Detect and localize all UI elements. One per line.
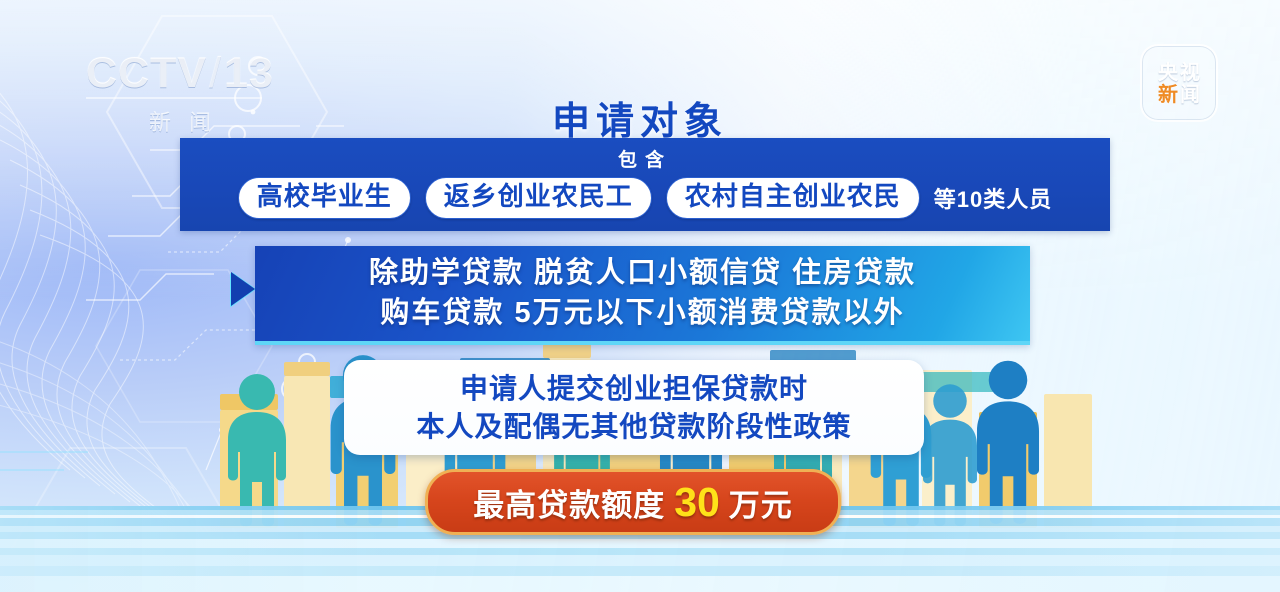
max-loan-number: 30: [671, 479, 723, 526]
eligibility-pill-2: 返乡创业农民工: [425, 177, 652, 219]
condition-line-2: 本人及配偶无其他贷款阶段性政策: [416, 408, 851, 446]
condition-card: 申请人提交创业担保贷款时 本人及配偶无其他贷款阶段性政策: [344, 360, 924, 455]
eligibility-tail-text: 等10类人员: [934, 182, 1052, 214]
max-loan-suffix: 万元: [729, 480, 793, 525]
exclusions-line-2: 购车贷款 5万元以下小额消费贷款以外: [380, 294, 904, 333]
eligibility-pill-1: 高校毕业生: [238, 177, 411, 219]
page-title: 申请对象: [0, 90, 1280, 145]
exclusions-panel: 除助学贷款 脱贫人口小额信贷 住房贷款 购车贷款 5万元以下小额消费贷款以外: [255, 246, 1030, 345]
max-loan-prefix: 最高贷款额度: [473, 480, 665, 525]
news-badge-row-top: 央 视: [1158, 62, 1200, 83]
condition-line-1: 申请人提交创业担保贷款时: [460, 370, 808, 408]
eligibility-pill-row: 高校毕业生 返乡创业农民工 农村自主创业农民 等10类人员: [180, 177, 1110, 219]
eligibility-panel: 包含 高校毕业生 返乡创业农民工 农村自主创业农民 等10类人员: [180, 138, 1110, 231]
news-badge-char-shi: 视: [1180, 62, 1200, 83]
person-silhouette: [962, 356, 1054, 528]
person-silhouette: [214, 372, 300, 528]
eligibility-panel-title: 包含: [180, 138, 1110, 172]
broadcast-graphic: CCTV/13 新闻 央 视 新 闻 申请对象 包含 高校毕业生 返乡创业农民工…: [0, 0, 1280, 592]
news-badge-char-yang: 央: [1158, 62, 1178, 83]
triangle-marker-icon: [231, 272, 255, 306]
max-loan-amount-badge: 最高贷款额度 30 万元: [425, 469, 841, 535]
exclusions-line-1: 除助学贷款 脱贫人口小额信贷 住房贷款: [369, 254, 916, 293]
eligibility-pill-3: 农村自主创业农民: [666, 177, 920, 219]
